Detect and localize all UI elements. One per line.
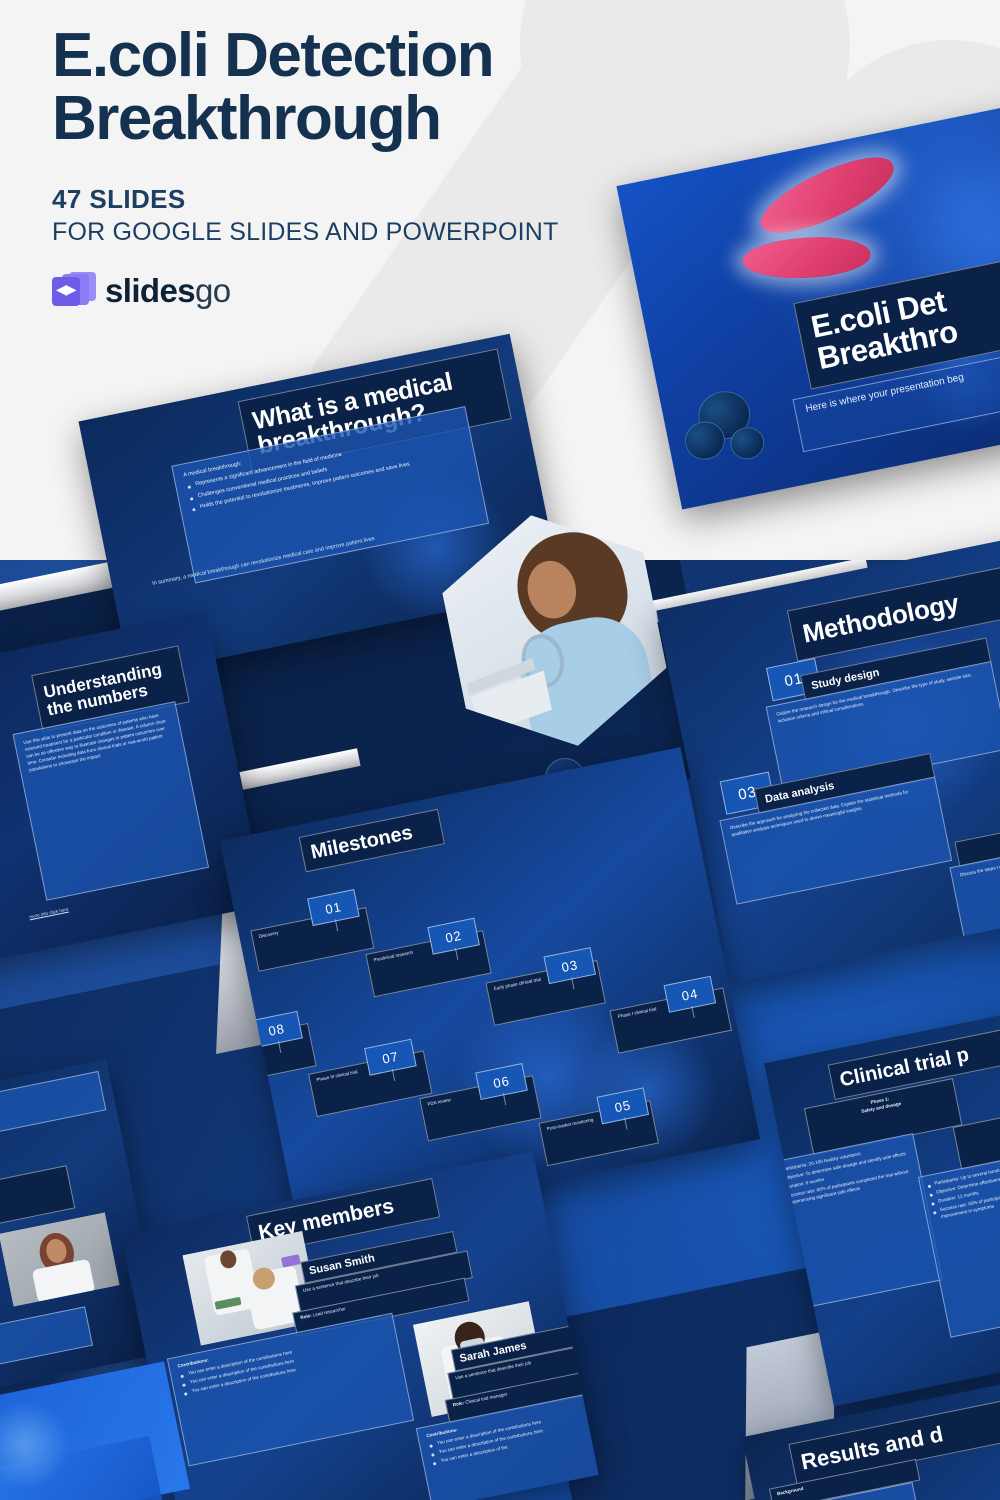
brand-name-suffix: go: [195, 272, 231, 309]
role-label: Role:: [452, 1400, 464, 1407]
role-label: Role:: [300, 1313, 312, 1320]
quote-fragment: t will greatly: [0, 1314, 79, 1351]
slide-heading: Milestones: [309, 821, 415, 864]
poster-canvas: E.coli Detection Breakthrough 47 SLIDES …: [0, 0, 1000, 1500]
smiling-woman-photo: [0, 1213, 119, 1307]
page-title: E.coli Detection Breakthrough: [52, 24, 612, 150]
slidesgo-logo[interactable]: ◀▶ slidesgo: [52, 271, 612, 311]
platform-label: FOR GOOGLE SLIDES AND POWERPOINT: [52, 218, 612, 247]
quote-fragment: again without any discomfort": [0, 1079, 92, 1126]
slide-count-label: 47 SLIDES: [52, 184, 612, 215]
slidesgo-stacked-slides-icon: ◀▶: [52, 271, 96, 311]
member-role: Lead researcher: [312, 1306, 346, 1318]
more-info-link[interactable]: more info click here: [29, 907, 69, 922]
hero-text-block: E.coli Detection Breakthrough 47 SLIDES …: [52, 24, 612, 311]
title-slide-heading: E.coli Det Breakthro: [809, 285, 961, 375]
brand-name: slides: [105, 272, 195, 309]
quote-fragment: akes: [0, 1173, 60, 1214]
brand-wordmark: slidesgo: [105, 272, 230, 310]
member-role: Clinical trial manager: [465, 1391, 508, 1404]
